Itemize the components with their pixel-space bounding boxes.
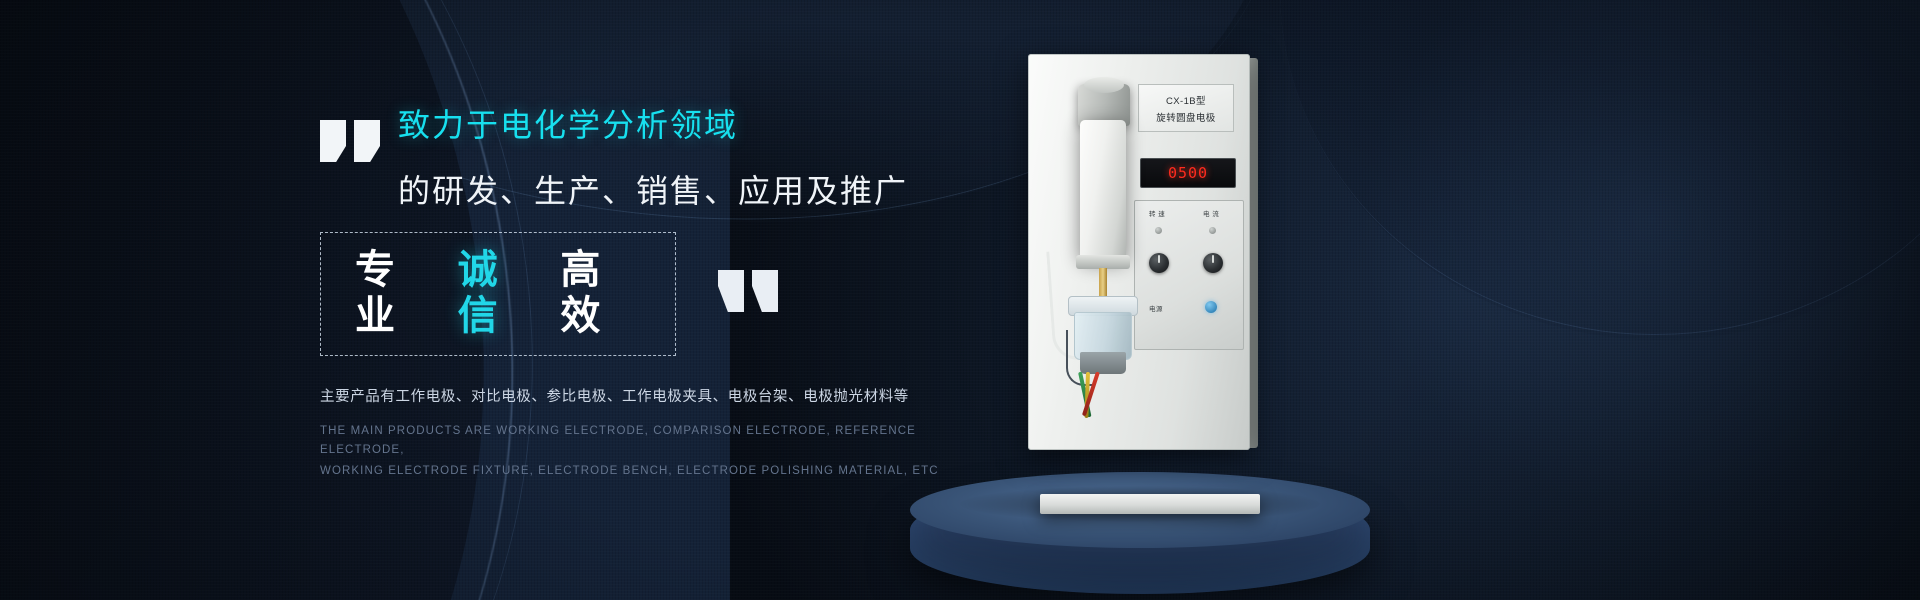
product-description-cn: 主要产品有工作电极、对比电极、参比电极、工作电极夹具、电极台架、电极抛光材料等 [320,386,940,408]
device-screw-right [1209,227,1216,234]
product-image: CX-1B型 旋转圆盘电极 0500 转 速 电 流 电源 [900,0,1460,600]
hero-banner: 致力于电化学分析领域 的研发、生产、销售、应用及推广 专业 诚信 高效 主要产品… [0,0,1920,600]
device-type-label: 旋转圆盘电极 [1156,110,1215,124]
device-label-plate: CX-1B型 旋转圆盘电极 [1138,84,1234,132]
device-screw-left [1155,227,1162,234]
slogan-word-2: 诚信 [458,247,539,339]
device-model-label: CX-1B型 [1166,93,1206,107]
device-knob-current[interactable] [1203,253,1223,273]
device-base-plate [1040,494,1260,514]
product-description-en-line1: THE MAIN PRODUCTS ARE WORKING ELECTRODE,… [320,422,940,460]
slogan-box: 专业 诚信 高效 [320,232,676,356]
device-control-box: 转 速 电 流 电源 [1134,200,1244,350]
headline-primary: 致力于电化学分析领域 [398,104,738,146]
slogan-word-1: 专业 [355,247,436,339]
slogan-row: 专业 诚信 高效 [320,232,940,356]
quote-open-icon [320,120,382,164]
device-led-display: 0500 [1140,158,1236,188]
device-display-value: 0500 [1168,164,1208,182]
hero-text-block: 致力于电化学分析领域 的研发、生产、销售、应用及推广 专业 诚信 高效 主要产品… [320,104,940,481]
control-label-right: 电 流 [1203,208,1219,218]
quote-close-icon [718,270,780,314]
product-description-en-line2: WORKING ELECTRODE FIXTURE, ELECTRODE BEN… [320,462,940,481]
device-power-switch[interactable] [1205,301,1217,313]
headline-row: 致力于电化学分析领域 [320,104,940,164]
slogan-word-3: 高效 [560,247,641,339]
control-label-left: 转 速 [1149,208,1165,218]
device-knob-speed[interactable] [1149,253,1169,273]
headline-secondary: 的研发、生产、销售、应用及推广 [398,168,940,214]
control-label-power: 电源 [1149,303,1163,313]
device-motor-body [1080,120,1126,260]
